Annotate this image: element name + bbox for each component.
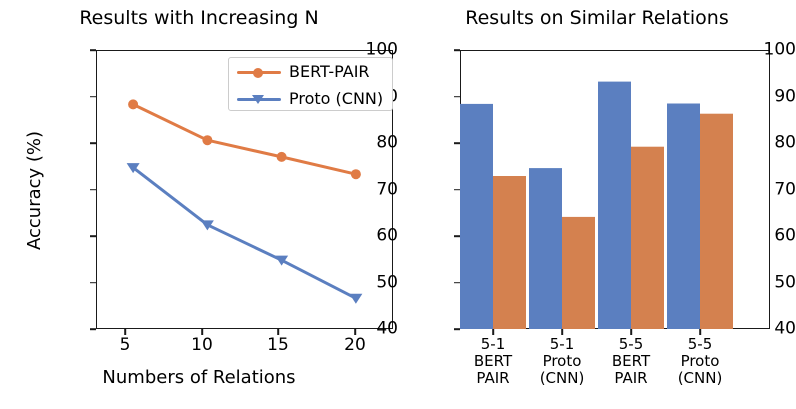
left-yaxis-label: Accuracy (%) bbox=[24, 131, 45, 250]
right-xtick-3-line-3: (CNN) bbox=[678, 370, 723, 387]
right-ytickmark-40 bbox=[454, 328, 460, 330]
line-marker-triangle-icon bbox=[237, 91, 281, 107]
legend-entry-proto-cnn[interactable]: Proto (CNN) bbox=[229, 85, 392, 112]
legend-label-bert-pair: BERT-PAIR bbox=[289, 64, 370, 80]
left-ytick-100: 100 bbox=[310, 42, 398, 59]
legend-label-proto-cnn: Proto (CNN) bbox=[289, 91, 383, 107]
right-xtick-2-line-1: 5-5 bbox=[612, 336, 650, 353]
left-ytickmark-40 bbox=[90, 328, 96, 330]
left-ytick-60: 60 bbox=[310, 228, 398, 245]
right-ytick-90: 90 bbox=[742, 88, 796, 105]
right-ytick-80: 80 bbox=[742, 135, 796, 152]
left-ytick-80: 80 bbox=[310, 135, 398, 152]
right-ytickmark-90 bbox=[454, 96, 460, 98]
left-chart-title: Results with Increasing N bbox=[0, 6, 398, 30]
right-ytick-40: 40 bbox=[742, 321, 796, 338]
right-xtick-0-line-1: 5-1 bbox=[474, 336, 512, 353]
left-ytickmark-100 bbox=[90, 49, 96, 51]
right-xtick-1-line-1: 5-1 bbox=[540, 336, 585, 353]
left-ytick-50: 50 bbox=[310, 274, 398, 291]
right-ytickmark-50 bbox=[454, 282, 460, 284]
right-xtick-0: 5-1 BERT PAIR bbox=[474, 336, 512, 387]
right-xtick-2: 5-5 BERT PAIR bbox=[612, 336, 650, 387]
right-ytick-70: 70 bbox=[742, 181, 796, 198]
right-plot-area bbox=[460, 50, 770, 329]
left-xtick-5: 5 bbox=[120, 336, 131, 355]
line-marker-circle-icon bbox=[237, 64, 281, 80]
right-ytickmark-80 bbox=[454, 142, 460, 144]
left-ytickmark-70 bbox=[90, 189, 96, 191]
legend-entry-bert-pair[interactable]: BERT-PAIR bbox=[229, 58, 392, 85]
right-ytickmark-70 bbox=[454, 189, 460, 191]
right-chart-panel: Results on Similar Relations 100 90 80 7… bbox=[398, 0, 796, 409]
left-ytick-70: 70 bbox=[310, 181, 398, 198]
right-xtick-3-line-2: Proto bbox=[678, 353, 723, 370]
right-ytick-100: 100 bbox=[742, 42, 796, 59]
left-ytickmark-50 bbox=[90, 282, 96, 284]
left-xtick-10: 10 bbox=[191, 336, 213, 355]
figure-canvas: Results with Increasing N 100 90 80 70 6… bbox=[0, 0, 796, 409]
right-xtick-1: 5-1 Proto (CNN) bbox=[540, 336, 585, 387]
left-ytickmark-80 bbox=[90, 142, 96, 144]
right-ytick-60: 60 bbox=[742, 228, 796, 245]
right-ytick-50: 50 bbox=[742, 274, 796, 291]
right-xtick-2-line-3: PAIR bbox=[612, 370, 650, 387]
left-ytickmark-60 bbox=[90, 235, 96, 237]
left-chart-legend[interactable]: BERT-PAIR Proto (CNN) bbox=[228, 57, 393, 111]
right-xtick-1-line-3: (CNN) bbox=[540, 370, 585, 387]
right-ytickmark-60 bbox=[454, 235, 460, 237]
right-xtick-3: 5-5 Proto (CNN) bbox=[678, 336, 723, 387]
right-xtick-2-line-2: BERT bbox=[612, 353, 650, 370]
left-xtick-15: 15 bbox=[267, 336, 289, 355]
left-xtick-20: 20 bbox=[344, 336, 366, 355]
left-ytickmark-90 bbox=[90, 96, 96, 98]
right-xtick-0-line-2: BERT bbox=[474, 353, 512, 370]
right-xtick-0-line-3: PAIR bbox=[474, 370, 512, 387]
left-xaxis-label: Numbers of Relations bbox=[0, 367, 398, 388]
left-chart-panel: Results with Increasing N 100 90 80 70 6… bbox=[0, 0, 398, 409]
right-xtick-1-line-2: Proto bbox=[540, 353, 585, 370]
right-chart-title: Results on Similar Relations bbox=[398, 6, 796, 30]
right-ytickmark-100 bbox=[454, 49, 460, 51]
right-xtick-3-line-1: 5-5 bbox=[678, 336, 723, 353]
